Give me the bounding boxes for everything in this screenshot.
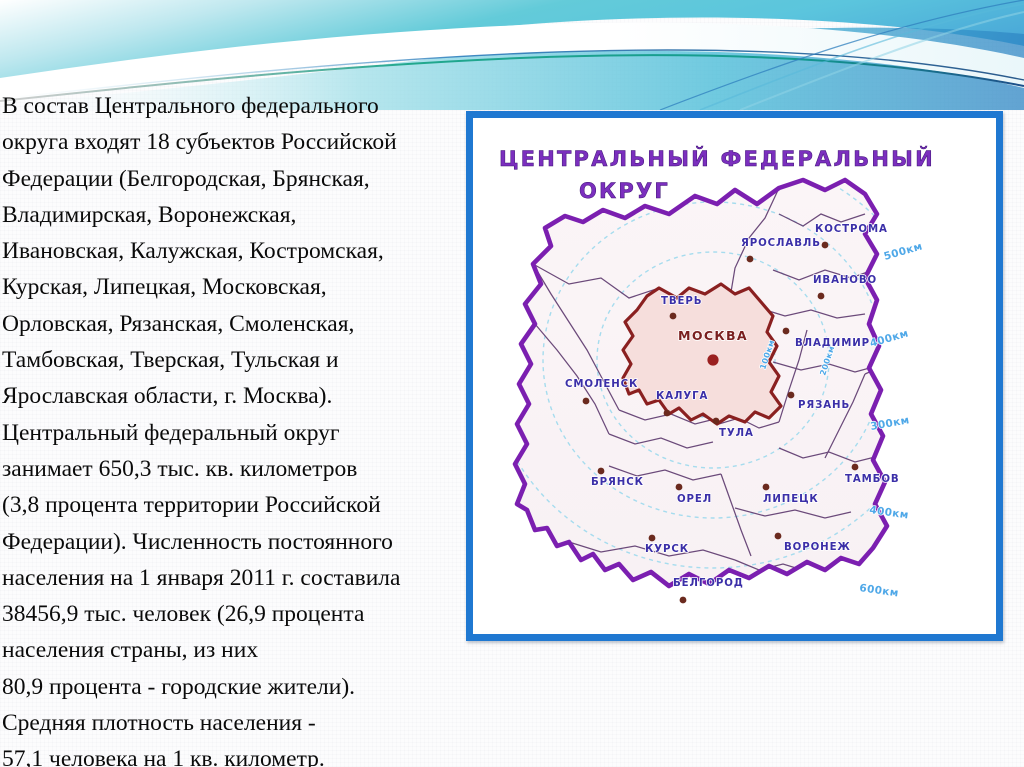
- city-label-smolensk: СМОЛЕНСК: [565, 379, 638, 390]
- city-label-ryazan: РЯЗАНЬ: [798, 400, 850, 411]
- city-label-yaroslavl: ЯРОСЛАВЛЬ: [741, 238, 821, 249]
- city-label-tambov: ТАМБОВ: [845, 474, 900, 485]
- map-image: ЦЕНТРАЛЬНЫЙ ФЕДЕРАЛЬНЫЙ ОКРУГ: [473, 118, 996, 634]
- city-label-tula: ТУЛА: [719, 428, 754, 439]
- slide-body-text: В состав Центрального федерального округ…: [2, 88, 454, 767]
- city-label-kursk: КУРСК: [645, 544, 689, 555]
- city-label-voronezh: ВОРОНЕЖ: [784, 542, 851, 553]
- map-title-line-2: ОКРУГ: [579, 179, 670, 203]
- body-paragraph: В состав Центрального федерального округ…: [2, 88, 454, 767]
- city-label-bryansk: БРЯНСК: [591, 477, 644, 488]
- city-label-ivanovo: ИВАНОВО: [813, 275, 877, 286]
- map-frame: ЦЕНТРАЛЬНЫЙ ФЕДЕРАЛЬНЫЙ ОКРУГ: [466, 111, 1003, 641]
- presentation-slide: В состав Центрального федерального округ…: [0, 0, 1024, 767]
- city-label-kostroma: КОСТРОМА: [815, 224, 888, 235]
- city-label-oryol: ОРЕЛ: [677, 494, 712, 505]
- map-title-line-1: ЦЕНТРАЛЬНЫЙ ФЕДЕРАЛЬНЫЙ: [499, 146, 935, 171]
- city-label-lipetsk: ЛИПЕЦК: [763, 494, 819, 505]
- city-label-kaluga: КАЛУГА: [656, 391, 708, 402]
- city-label-moscow: МОСКВА: [678, 328, 748, 343]
- city-label-tver: ТВЕРЬ: [661, 296, 702, 307]
- city-label-belgorod: БЕЛГОРОД: [673, 578, 744, 589]
- central-federal-district-map: ЦЕНТРАЛЬНЫЙ ФЕДЕРАЛЬНЫЙ ОКРУГ: [473, 118, 996, 634]
